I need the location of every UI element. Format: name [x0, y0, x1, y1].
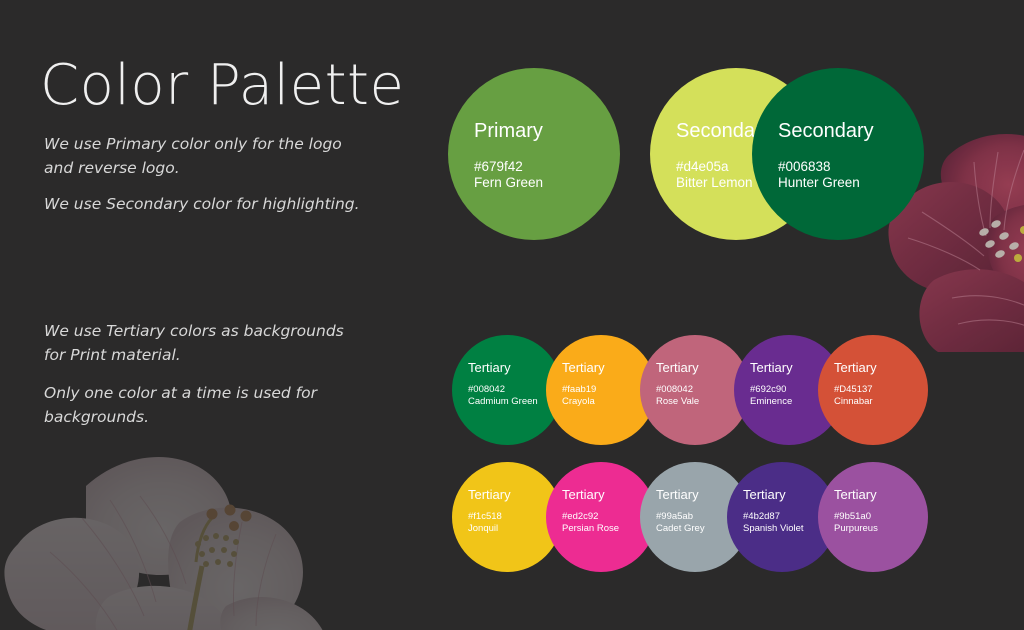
swatch-color-name: Hunter Green	[752, 174, 924, 191]
note-tertiary: We use Tertiary colors as backgrounds fo…	[44, 319, 344, 367]
swatch-cinnabar[interactable]: Tertiary#D45137Cinnabar	[818, 335, 928, 445]
swatch-hex-code: #006838	[752, 158, 924, 175]
note-single-color: Only one color at a time is used for bac…	[44, 381, 344, 429]
hibiscus-flower-pale-pink-icon	[0, 426, 350, 630]
swatch-hex-code: #9b51a0	[818, 511, 928, 523]
swatch-role-label: Tertiary	[818, 361, 928, 375]
swatch-color-name: Fern Green	[448, 174, 620, 191]
page-title: Color Palette	[40, 57, 404, 116]
swatch-color-name: Purpureus	[818, 523, 928, 535]
swatch-role-label: Tertiary	[818, 488, 928, 502]
swatch-hex-code: #D45137	[818, 384, 928, 396]
swatch-fern-green[interactable]: Primary#679f42Fern Green	[448, 68, 620, 240]
swatch-color-name: Cinnabar	[818, 396, 928, 408]
note-secondary: We use Secondary color for highlighting.	[44, 192, 374, 216]
swatch-hex-code: #679f42	[448, 158, 620, 175]
swatch-purpureus[interactable]: Tertiary#9b51a0Purpureus	[818, 462, 928, 572]
note-primary: We use Primary color only for the logo a…	[44, 132, 374, 180]
swatch-role-label: Secondary	[752, 120, 924, 142]
swatch-role-label: Primary	[448, 120, 620, 142]
slide-canvas: Color Palette We use Primary color only …	[0, 0, 1024, 630]
swatch-hunter-green[interactable]: Secondary#006838Hunter Green	[752, 68, 924, 240]
